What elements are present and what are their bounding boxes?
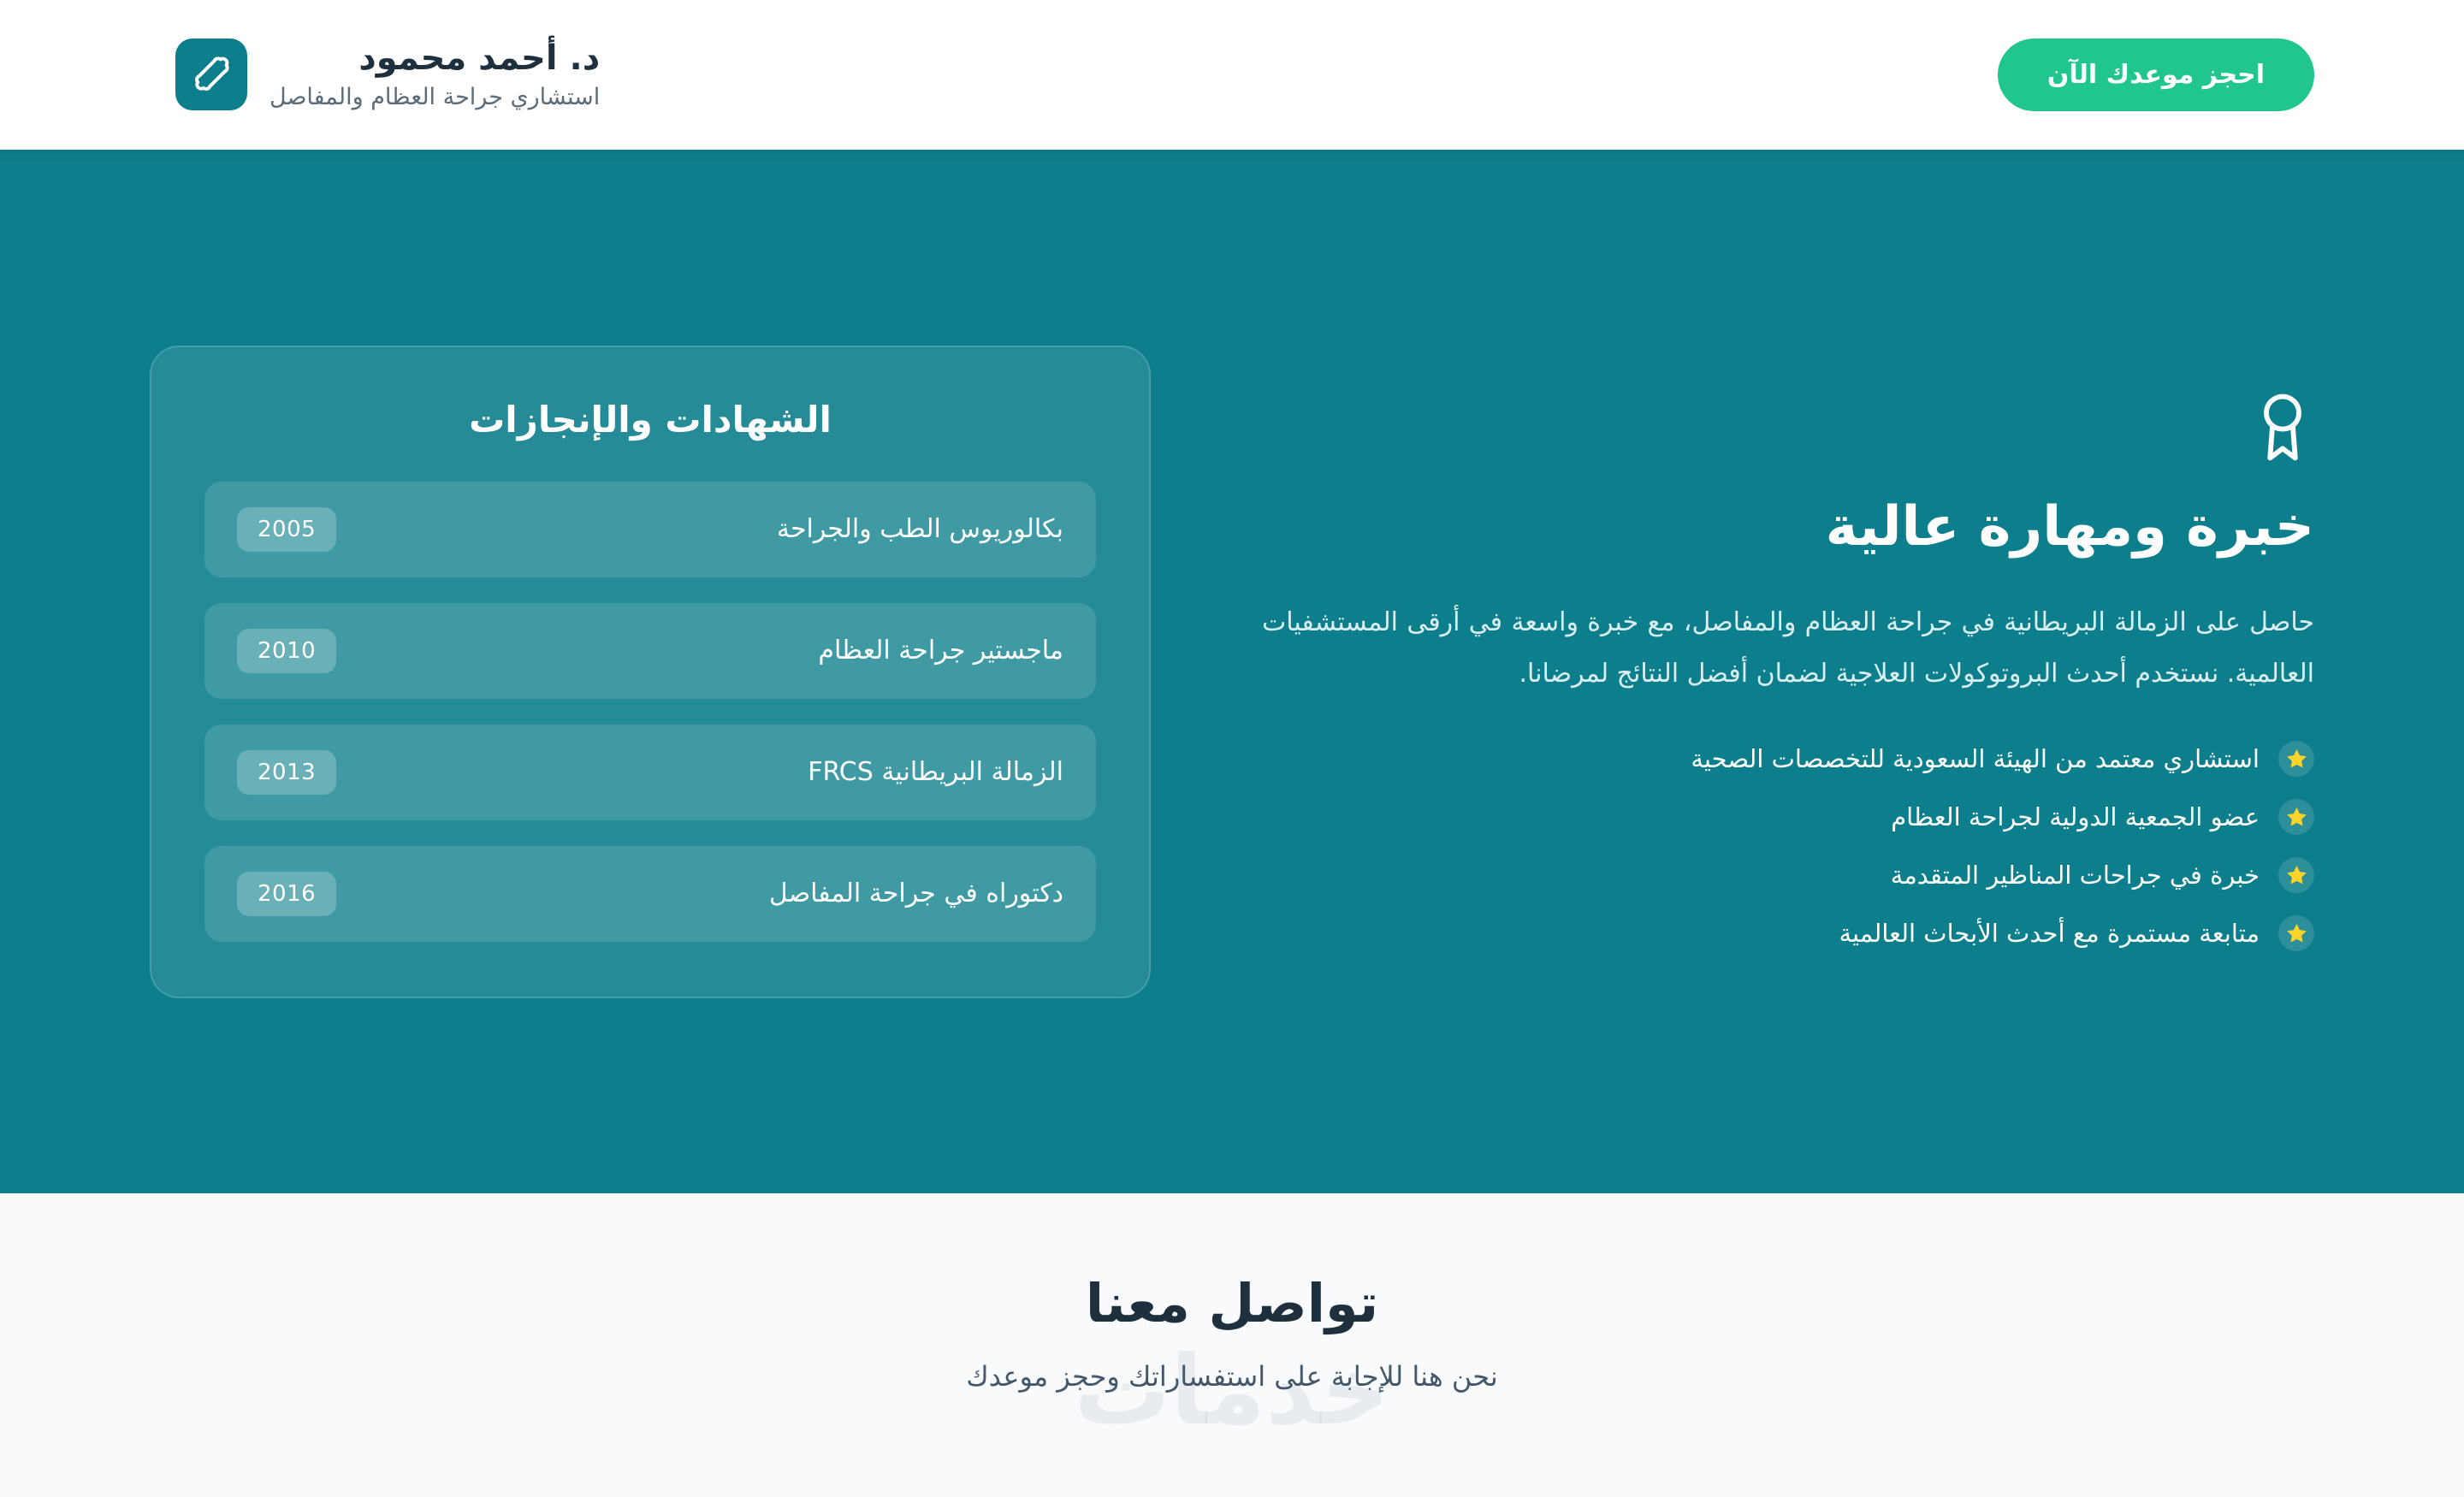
credential-row[interactable]: الزمالة البريطانية FRCS 2013 <box>204 725 1096 820</box>
star-icon <box>2278 799 2314 835</box>
brand-subtitle: استشاري جراحة العظام والمفاصل <box>269 84 600 111</box>
credential-name: الزمالة البريطانية FRCS <box>808 757 1063 787</box>
hero-section: خبرة ومهارة عالية حاصل على الزمالة البري… <box>0 150 2464 1193</box>
credential-year-badge: 2016 <box>237 872 336 916</box>
credential-row[interactable]: ماجستير جراحة العظام 2010 <box>204 603 1096 699</box>
star-icon <box>2278 741 2314 777</box>
star-icon <box>2278 857 2314 893</box>
brand-text: د. أحمد محمود استشاري جراحة العظام والمف… <box>269 38 600 111</box>
hero-paragraph: حاصل على الزمالة البريطانية في جراحة الع… <box>1262 597 2314 700</box>
feature-item: استشاري معتمد من الهيئة السعودية للتخصصا… <box>1262 741 2314 777</box>
credentials-card-title: الشهادات والإنجازات <box>204 399 1096 441</box>
feature-item: عضو الجمعية الدولية لجراحة العظام <box>1262 799 2314 835</box>
brand-name: د. أحمد محمود <box>269 38 600 79</box>
credential-year-badge: 2013 <box>237 750 336 795</box>
site-header: احجز موعدك الآن د. أحمد محمود استشاري جر… <box>0 0 2464 150</box>
credentials-list: بكالوريوس الطب والجراحة 2005 ماجستير جرا… <box>204 482 1096 942</box>
brand-logo[interactable] <box>175 38 247 110</box>
contact-subtitle: نحن هنا للإجابة على استفساراتك وحجز موعد… <box>966 1360 1498 1393</box>
hero-text-column: خبرة ومهارة عالية حاصل على الزمالة البري… <box>1262 392 2314 951</box>
contact-title: تواصل معنا <box>1086 1272 1378 1334</box>
credential-row[interactable]: بكالوريوس الطب والجراحة 2005 <box>204 482 1096 577</box>
credential-year-badge: 2005 <box>237 507 336 552</box>
feature-label: عضو الجمعية الدولية لجراحة العظام <box>1891 800 2260 835</box>
contact-section: خدمات تواصل معنا نحن هنا للإجابة على است… <box>0 1193 2464 1497</box>
star-icon <box>2278 915 2314 951</box>
credentials-card: الشهادات والإنجازات بكالوريوس الطب والجر… <box>150 346 1151 998</box>
credential-year-badge: 2010 <box>237 629 336 673</box>
award-ribbon-icon <box>1262 392 2314 469</box>
feature-item: خبرة في جراحات المناظير المتقدمة <box>1262 857 2314 893</box>
credential-name: بكالوريوس الطب والجراحة <box>777 514 1063 544</box>
brand[interactable]: د. أحمد محمود استشاري جراحة العظام والمف… <box>175 38 600 111</box>
feature-list: استشاري معتمد من الهيئة السعودية للتخصصا… <box>1262 741 2314 951</box>
bone-icon <box>190 53 233 96</box>
feature-item: متابعة مستمرة مع أحدث الأبحاث العالمية <box>1262 915 2314 951</box>
hero-inner: خبرة ومهارة عالية حاصل على الزمالة البري… <box>150 346 2314 998</box>
book-appointment-button[interactable]: احجز موعدك الآن <box>1998 38 2314 111</box>
hero-title: خبرة ومهارة عالية <box>1262 493 2314 561</box>
feature-label: استشاري معتمد من الهيئة السعودية للتخصصا… <box>1691 742 2260 777</box>
feature-label: متابعة مستمرة مع أحدث الأبحاث العالمية <box>1839 916 2260 951</box>
feature-label: خبرة في جراحات المناظير المتقدمة <box>1891 858 2260 893</box>
credential-name: دكتوراه في جراحة المفاصل <box>769 879 1063 908</box>
credential-row[interactable]: دكتوراه في جراحة المفاصل 2016 <box>204 846 1096 942</box>
credential-name: ماجستير جراحة العظام <box>818 636 1063 666</box>
